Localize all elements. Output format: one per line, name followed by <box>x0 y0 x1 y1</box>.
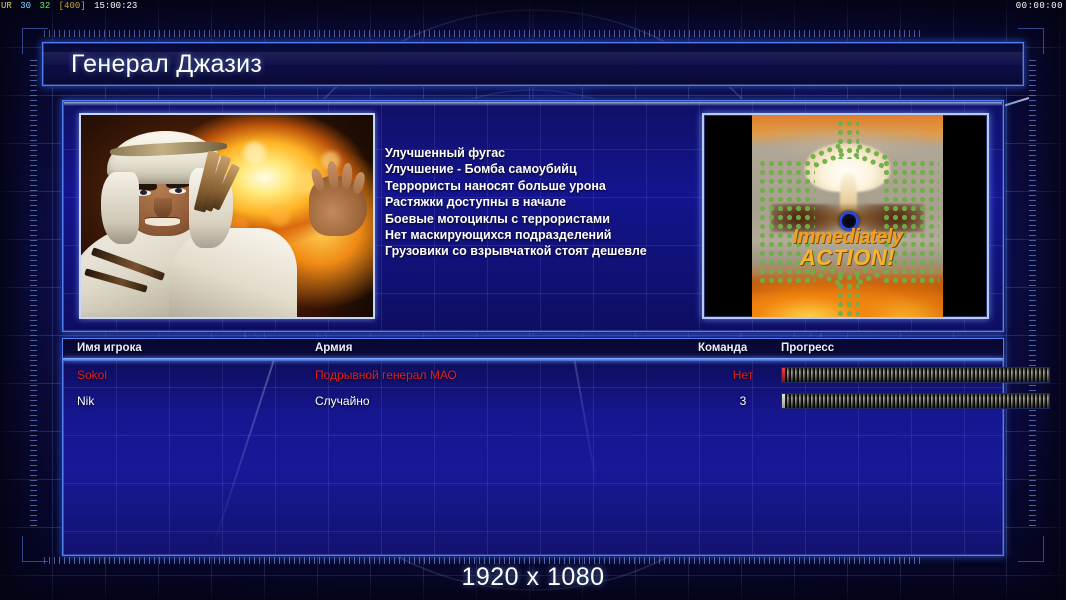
general-portrait <box>79 113 375 319</box>
debug-value-2: 32 <box>39 1 50 11</box>
player-list-panel: Имя игрока Армия Команда Прогресс Sokol … <box>62 338 1004 556</box>
column-header-name: Имя игрока <box>77 342 142 354</box>
video-preview-art: Immediately ACTION! <box>752 115 943 317</box>
figure-robe-front <box>169 228 297 317</box>
general-info-panel: Улучшенный фугас Улучшение - Бомба самоу… <box>62 100 1004 332</box>
player-progress-bar <box>781 393 1050 409</box>
ruler-left <box>30 60 37 530</box>
figure-nose <box>154 198 172 218</box>
header-underline <box>63 358 1003 361</box>
progress-left-cap <box>782 368 785 382</box>
debug-left-readout: UR 30 32 [400] 15:00:23 <box>1 0 140 13</box>
progress-fill <box>782 368 1049 382</box>
general-video-preview: Immediately ACTION! <box>702 113 989 319</box>
game-clock: 00:00:00 <box>1016 0 1063 13</box>
debug-timer: 15:00:23 <box>94 1 137 11</box>
general-portrait-art <box>81 115 373 317</box>
player-name: Nik <box>77 394 94 408</box>
ruler-top <box>44 30 924 37</box>
player-progress-bar <box>781 367 1050 383</box>
debug-label-ur: UR <box>1 1 12 11</box>
game-options-screen: Генерал Джазиз <box>0 0 1066 600</box>
resolution-label: 1920 x 1080 <box>0 563 1066 592</box>
targeting-reticle-icon <box>839 211 859 231</box>
title-panel: Генерал Джазиз <box>42 42 1024 86</box>
player-table-header: Имя игрока Армия Команда Прогресс <box>63 339 1003 361</box>
info-panel-sheen <box>64 102 1002 106</box>
figure-mouth <box>145 218 180 226</box>
figure-eye-right <box>169 188 187 194</box>
player-team[interactable]: Нет <box>718 368 768 382</box>
debug-status-bar: UR 30 32 [400] 15:00:23 00:00:00 <box>0 0 1066 13</box>
column-header-army: Армия <box>315 342 352 354</box>
progress-left-cap <box>782 394 785 408</box>
frame-corner-bottom-right <box>1018 536 1044 562</box>
table-row[interactable]: Sokol Подрывной генерал МАО Нет <box>63 363 1003 389</box>
frame-corner-bottom-left <box>22 536 48 562</box>
table-row[interactable]: Nik Случайно 3 <box>63 389 1003 415</box>
debug-value-1: 30 <box>20 1 31 11</box>
troop-formation-left <box>758 159 815 284</box>
debug-value-bracket: [400] <box>59 1 86 11</box>
player-team[interactable]: 3 <box>718 394 768 408</box>
player-army[interactable]: Подрывной генерал МАО <box>315 368 457 382</box>
page-title: Генерал Джазиз <box>71 50 262 79</box>
figure-headdress-side-left <box>101 172 139 245</box>
column-header-progress: Прогресс <box>781 342 834 354</box>
progress-fill <box>782 394 1049 408</box>
troop-formation-right <box>882 159 939 284</box>
player-name: Sokol <box>77 368 107 382</box>
column-header-team: Команда <box>698 342 747 354</box>
player-army[interactable]: Случайно <box>315 394 370 408</box>
